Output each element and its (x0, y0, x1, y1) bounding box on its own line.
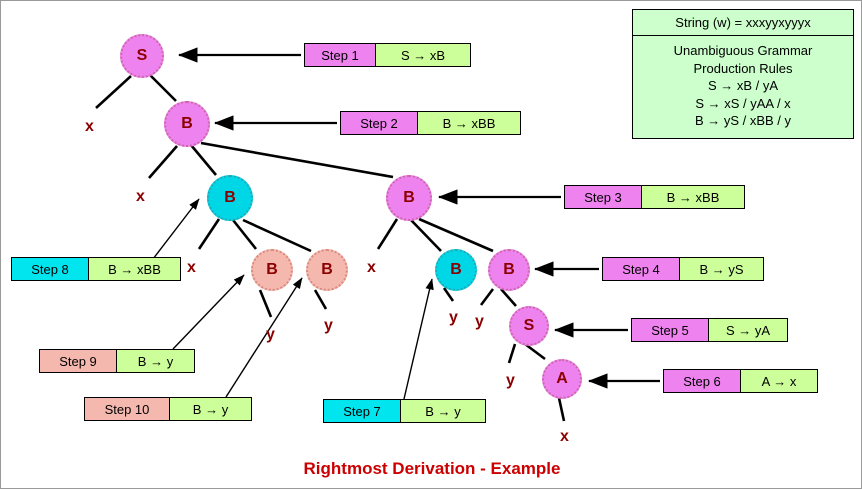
step-box-step7: Step 7B → y (323, 399, 486, 423)
step-label-step6: Step 6 (664, 370, 741, 392)
production-rule-1: S → xB / yA (635, 77, 851, 95)
tree-node-n3: B (207, 175, 253, 221)
step-label-step3: Step 3 (565, 186, 642, 208)
step-rule-step10: B → y (170, 398, 251, 420)
step-rule-step3: B → xBB (642, 186, 744, 208)
step-rule-step6: A → x (741, 370, 817, 392)
terminal-t4: y (266, 326, 275, 344)
tree-node-n5: B (251, 249, 293, 291)
info-panel: String (w) = xxxyyxyyyx Unambiguous Gram… (632, 9, 854, 139)
terminal-t8: y (475, 313, 484, 331)
step-label-step10: Step 10 (85, 398, 170, 420)
tree-node-n2: B (164, 101, 210, 147)
step-rule-step8: B → xBB (89, 258, 180, 280)
step-label-step1: Step 1 (305, 44, 376, 66)
terminal-t6: x (367, 259, 376, 277)
terminal-t7: y (449, 309, 458, 327)
step-rule-step7: B → y (401, 400, 485, 422)
step-box-step8: Step 8B → xBB (11, 257, 181, 281)
input-string: String (w) = xxxyyxyyyx (633, 10, 853, 36)
tree-node-n10: A (542, 359, 582, 399)
step-label-step8: Step 8 (12, 258, 89, 280)
step-box-step2: Step 2B → xBB (340, 111, 521, 135)
diagram-canvas: String (w) = xxxyyxyyyx Unambiguous Gram… (0, 0, 862, 489)
terminal-t3: x (187, 259, 196, 277)
step-box-step6: Step 6A → x (663, 369, 818, 393)
step-rule-step1: S → xB (376, 44, 470, 66)
tree-node-n6: B (306, 249, 348, 291)
step-rule-step5: S → yA (709, 319, 787, 341)
grammar-box: Unambiguous Grammar Production Rules S →… (633, 36, 853, 138)
step-box-step5: Step 5S → yA (631, 318, 788, 342)
step-box-step1: Step 1S → xB (304, 43, 471, 67)
step-label-step4: Step 4 (603, 258, 680, 280)
step-box-step3: Step 3B → xBB (564, 185, 745, 209)
terminal-t1: x (85, 118, 94, 136)
tree-node-n7: B (435, 249, 477, 291)
tree-node-n8: B (488, 249, 530, 291)
terminal-t5: y (324, 317, 333, 335)
step-box-step10: Step 10B → y (84, 397, 252, 421)
production-rule-3: B → yS / xBB / y (635, 112, 851, 130)
figure-caption: Rightmost Derivation - Example (1, 459, 862, 479)
step-box-step4: Step 4B → yS (602, 257, 764, 281)
step-rule-step9: B → y (117, 350, 194, 372)
tree-node-n4: B (386, 175, 432, 221)
terminal-t9: y (506, 372, 515, 390)
tree-node-n9: S (509, 306, 549, 346)
step-label-step7: Step 7 (324, 400, 401, 422)
step-box-step9: Step 9B → y (39, 349, 195, 373)
terminal-t2: x (136, 188, 145, 206)
tree-node-n1: S (120, 34, 164, 78)
step-label-step5: Step 5 (632, 319, 709, 341)
production-rule-2: S → xS / yAA / x (635, 95, 851, 113)
terminal-t10: x (560, 428, 569, 446)
step-rule-step2: B → xBB (418, 112, 520, 134)
grammar-title-line-2: Production Rules (635, 60, 851, 78)
grammar-title-line-1: Unambiguous Grammar (635, 42, 851, 60)
step-rule-step4: B → yS (680, 258, 763, 280)
step-label-step2: Step 2 (341, 112, 418, 134)
step-label-step9: Step 9 (40, 350, 117, 372)
